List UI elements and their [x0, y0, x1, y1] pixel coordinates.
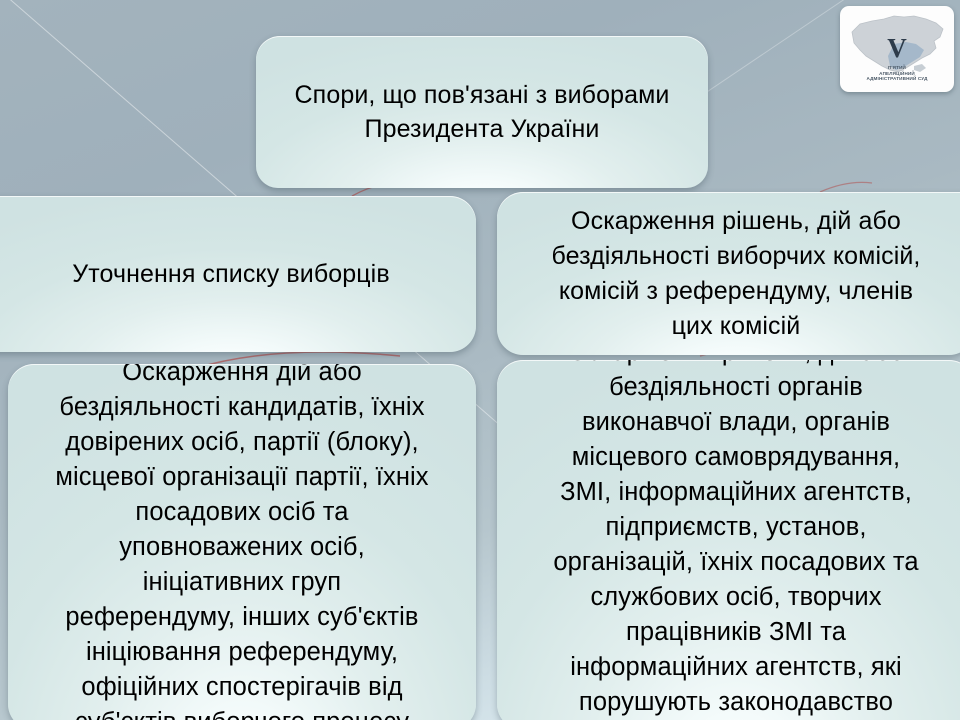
diagram-node-voter-list[interactable]: Уточнення списку виборців — [0, 196, 476, 352]
court-logo[interactable]: V П'ЯТИЙ АПЕЛЯЦІЙНИЙ АДМІНІСТРАТИВНИЙ СУ… — [840, 6, 954, 92]
slide-canvas: Спори, що пов'язані з виборами Президент… — [0, 0, 960, 720]
diagram-node-voter-list-label: Уточнення списку виборців — [0, 257, 476, 291]
diagram-node-authorities[interactable]: Оскарження рішень, дій або бездіяльності… — [497, 360, 960, 720]
diagram-node-candidates[interactable]: Оскарження дій або бездіяльності кандида… — [8, 364, 476, 720]
diagram-node-candidates-label: Оскарження дій або бездіяльності кандида… — [8, 364, 476, 720]
svg-text:V: V — [887, 33, 907, 63]
court-logo-caption: П'ЯТИЙ АПЕЛЯЦІЙНИЙ АДМІНІСТРАТИВНИЙ СУД — [840, 65, 954, 82]
diagram-node-commissions-label: Оскарження рішень, дій або бездіяльності… — [497, 204, 960, 344]
diagram-node-authorities-label: Оскарження рішень, дій або бездіяльності… — [497, 360, 960, 720]
diagram-node-title[interactable]: Спори, що пов'язані з виборами Президент… — [256, 36, 708, 188]
diagram-node-commissions[interactable]: Оскарження рішень, дій або бездіяльності… — [497, 192, 960, 355]
diagram-node-title-label: Спори, що пов'язані з виборами Президент… — [256, 78, 708, 146]
